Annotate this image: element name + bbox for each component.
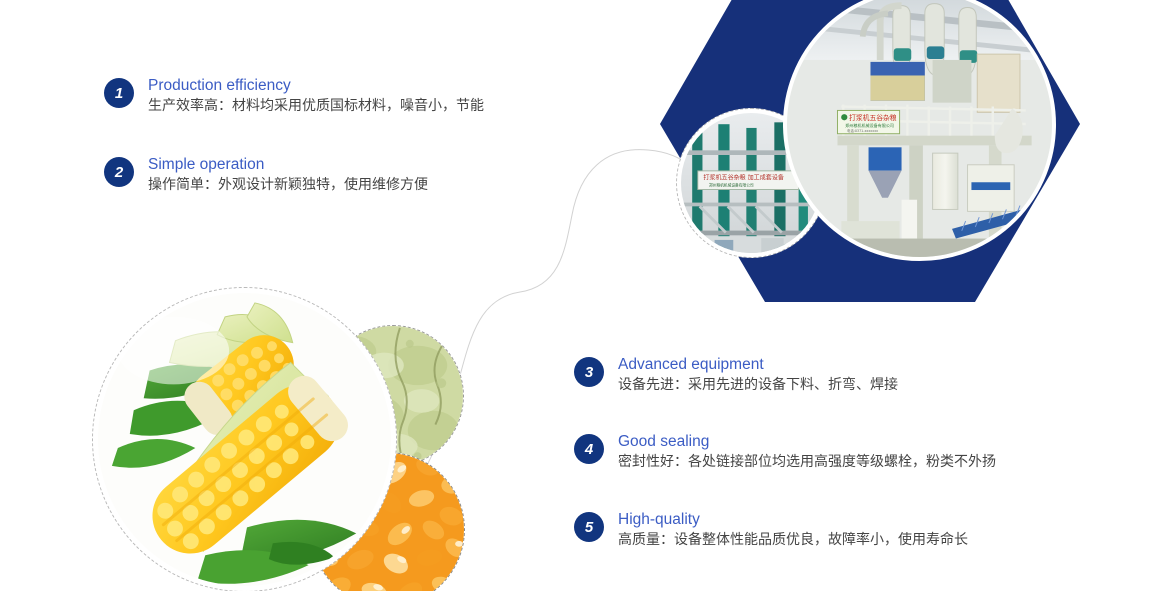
svg-text:电话:0371-xxxxxxx: 电话:0371-xxxxxxx (847, 128, 878, 133)
feature-text-4: Good sealing 密封性好：各处链接部位均选用高强度等级螺栓，粉类不外扬 (618, 432, 996, 473)
feature-badge-3: 3 (574, 357, 604, 387)
feature-item-1[interactable]: 1 Production efficiency 生产效率高：材料均采用优质国标材… (104, 76, 484, 117)
feature-badge-5: 5 (574, 512, 604, 542)
feature-title-5: High-quality (618, 510, 968, 529)
feature-text-2: Simple operation 操作简单：外观设计新颖独特，使用维修方便 (148, 155, 428, 196)
feature-desc-5: 高质量：设备整体性能品质优良，故障率小，使用寿命长 (618, 530, 968, 551)
feature-title-4: Good sealing (618, 432, 996, 451)
feature-desc-4: 密封性好：各处链接部位均选用高强度等级螺栓，粉类不外扬 (618, 452, 996, 473)
feature-item-5[interactable]: 5 High-quality 高质量：设备整体性能品质优良，故障率小，使用寿命长 (574, 510, 968, 551)
feature-desc-3: 设备先进：采用先进的设备下料、折弯、焊接 (618, 375, 898, 396)
svg-text:郑州粮机机械设备有限公司: 郑州粮机机械设备有限公司 (709, 183, 754, 188)
feature-item-2[interactable]: 2 Simple operation 操作简单：外观设计新颖独特，使用维修方便 (104, 155, 428, 196)
flour-milling-plant-photo: 打浆机五谷杂粮 郑州粮机机械设备有限公司 电话:0371-xxxxxxx (787, 0, 1052, 257)
feature-title-3: Advanced equipment (618, 355, 898, 374)
feature-item-4[interactable]: 4 Good sealing 密封性好：各处链接部位均选用高强度等级螺栓，粉类不… (574, 432, 996, 473)
feature-title-2: Simple operation (148, 155, 428, 174)
feature-title-1: Production efficiency (148, 76, 484, 95)
svg-text:打浆机五谷杂粮 加工成套设备: 打浆机五谷杂粮 加工成套设备 (703, 173, 784, 181)
feature-text-1: Production efficiency 生产效率高：材料均采用优质国标材料，… (148, 76, 484, 117)
feature-text-5: High-quality 高质量：设备整体性能品质优良，故障率小，使用寿命长 (618, 510, 968, 551)
feature-text-3: Advanced equipment 设备先进：采用先进的设备下料、折弯、焊接 (618, 355, 898, 396)
infographic-canvas: 打浆机五谷杂粮 加工成套设备 郑州粮机机械设备有限公司 (0, 0, 1154, 591)
svg-text:打浆机五谷杂粮: 打浆机五谷杂粮 (849, 113, 897, 122)
svg-text:郑州粮机机械设备有限公司: 郑州粮机机械设备有限公司 (845, 122, 894, 128)
feature-desc-1: 生产效率高：材料均采用优质国标材料，噪音小，节能 (148, 96, 484, 117)
machine-large-photo: 打浆机五谷杂粮 郑州粮机机械设备有限公司 电话:0371-xxxxxxx (783, 0, 1056, 261)
feature-desc-2: 操作简单：外观设计新颖独特，使用维修方便 (148, 175, 428, 196)
feature-badge-4: 4 (574, 434, 604, 464)
feature-badge-1: 1 (104, 78, 134, 108)
feature-item-3[interactable]: 3 Advanced equipment 设备先进：采用先进的设备下料、折弯、焊… (574, 355, 898, 396)
feature-badge-2: 2 (104, 157, 134, 187)
corn-cob-photo (92, 287, 397, 591)
fresh-corn-cob-photo (98, 293, 391, 586)
